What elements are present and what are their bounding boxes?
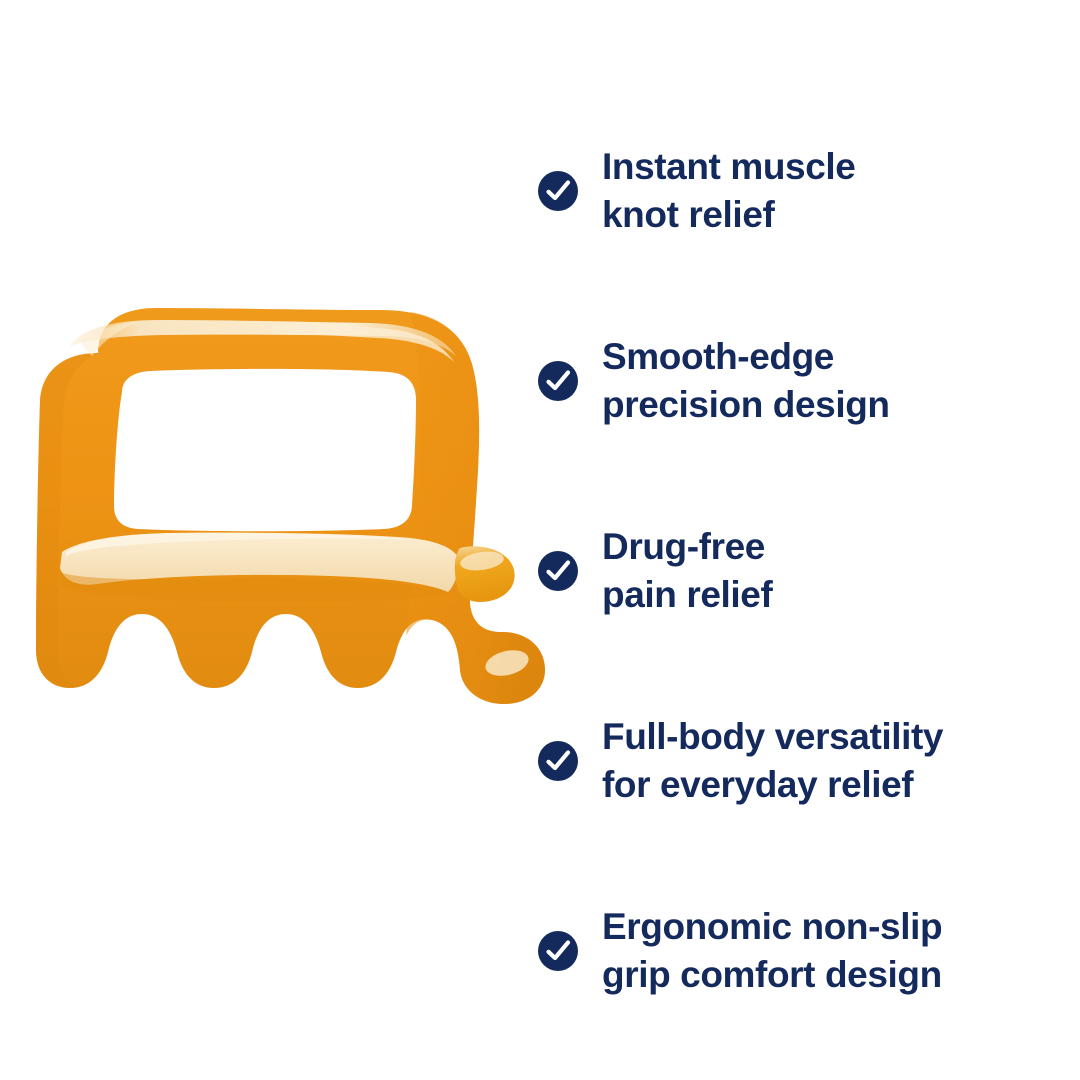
benefit-item: Drug-free pain relief: [538, 476, 1068, 666]
benefit-label: Drug-free pain relief: [602, 523, 772, 619]
product-body-shape: [36, 308, 545, 704]
check-circle-icon: [538, 931, 578, 971]
check-circle-icon: [538, 361, 578, 401]
benefit-item: Instant muscle knot relief: [538, 96, 1068, 286]
benefit-label: Full-body versatility for everyday relie…: [602, 713, 943, 809]
product-image: [10, 280, 555, 705]
benefit-label: Instant muscle knot relief: [602, 143, 855, 239]
benefit-label: Smooth-edge precision design: [602, 333, 890, 429]
check-circle-icon: [538, 741, 578, 781]
benefit-item: Ergonomic non-slip grip comfort design: [538, 856, 1068, 1046]
benefit-label: Ergonomic non-slip grip comfort design: [602, 903, 942, 999]
benefit-item: Smooth-edge precision design: [538, 286, 1068, 476]
check-circle-icon: [538, 171, 578, 211]
check-circle-icon: [538, 551, 578, 591]
benefits-list: Instant muscle knot relief Smooth-edge p…: [538, 96, 1068, 986]
benefit-item: Full-body versatility for everyday relie…: [538, 666, 1068, 856]
product-feature-page: Instant muscle knot relief Smooth-edge p…: [0, 0, 1080, 1080]
